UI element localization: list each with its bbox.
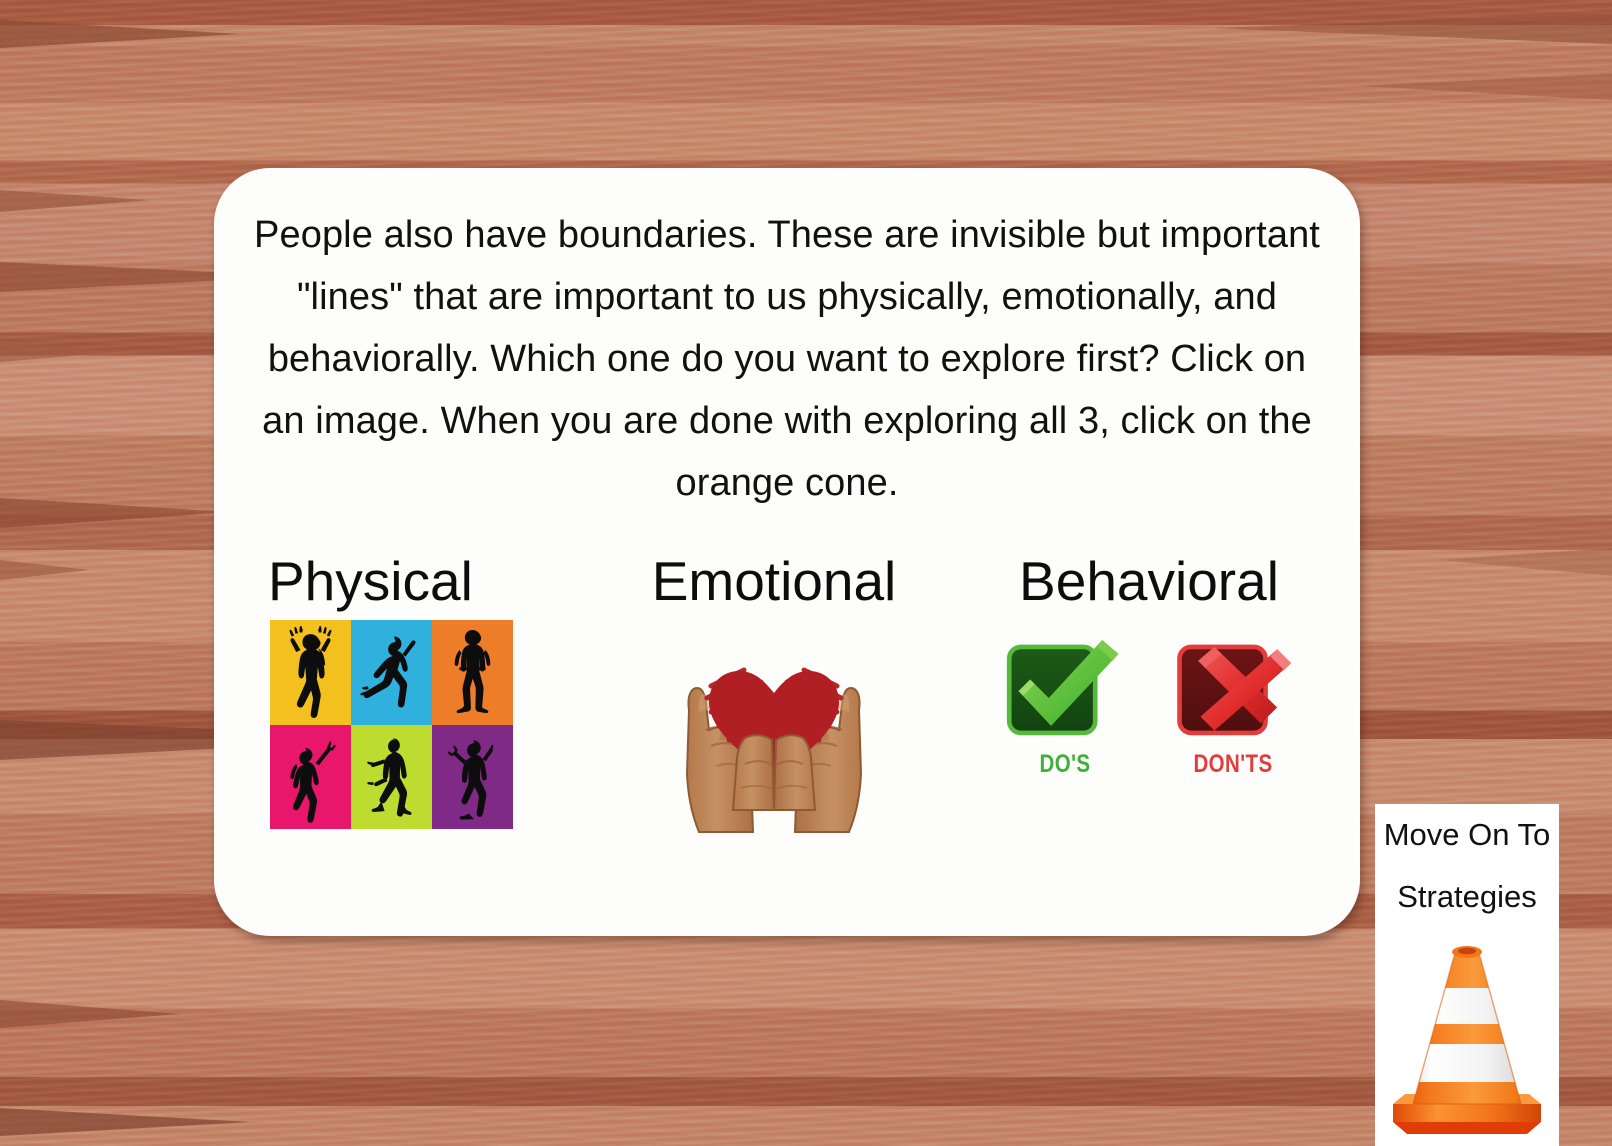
option-emotional-media[interactable]: [614, 620, 934, 835]
move-on-line-1: Move On To: [1375, 804, 1559, 866]
dance-tile-pink: [270, 725, 351, 830]
move-on-line-2: Strategies: [1375, 866, 1559, 926]
option-emotional-title: Emotional: [614, 550, 934, 612]
content-card: People also have boundaries. These are i…: [214, 168, 1360, 936]
move-on-to-strategies-label[interactable]: Move On To Strategies: [1375, 804, 1559, 926]
dance-tile-yellow: [270, 620, 351, 725]
dancing-silhouettes-grid-image[interactable]: [270, 620, 513, 829]
orange-traffic-cone-icon: [1375, 926, 1559, 1146]
option-physical-title: Physical: [256, 550, 556, 612]
dance-tile-blue: [351, 620, 432, 725]
intro-paragraph: People also have boundaries. These are i…: [250, 204, 1324, 514]
dancer-jumping-icon: [432, 725, 513, 830]
option-physical[interactable]: Physical: [256, 550, 556, 829]
donts-label: DON'TS: [1175, 750, 1291, 779]
dancer-arm-raised-icon: [270, 725, 351, 830]
dancer-arms-up-icon: [270, 620, 351, 725]
hands-heart-icon: [649, 620, 899, 835]
green-check-icon: [994, 626, 1136, 748]
option-behavioral-media[interactable]: DO'S: [974, 626, 1324, 801]
hands-holding-heart-image[interactable]: [649, 620, 899, 835]
dance-tile-orange: [432, 620, 513, 725]
dos-label: DO'S: [1007, 750, 1123, 779]
options-row: Physical: [214, 550, 1360, 936]
option-physical-media[interactable]: [256, 620, 556, 829]
dos-and-donts-image[interactable]: DO'S: [984, 626, 1314, 801]
donts-item[interactable]: DON'TS: [1162, 626, 1304, 801]
dancer-crouching-icon: [351, 725, 432, 830]
option-behavioral-title: Behavioral: [974, 550, 1324, 612]
dance-tile-purple: [432, 725, 513, 830]
dancer-leaping-icon: [351, 620, 432, 725]
dance-tile-lime: [351, 725, 432, 830]
red-cross-icon: [1162, 626, 1304, 748]
option-behavioral[interactable]: Behavioral: [974, 550, 1324, 801]
orange-cone-button[interactable]: [1375, 926, 1559, 1146]
person-standing-icon: [432, 620, 513, 725]
slide-stage: People also have boundaries. These are i…: [0, 0, 1612, 1146]
option-emotional[interactable]: Emotional: [614, 550, 934, 835]
dos-item[interactable]: DO'S: [994, 626, 1136, 801]
